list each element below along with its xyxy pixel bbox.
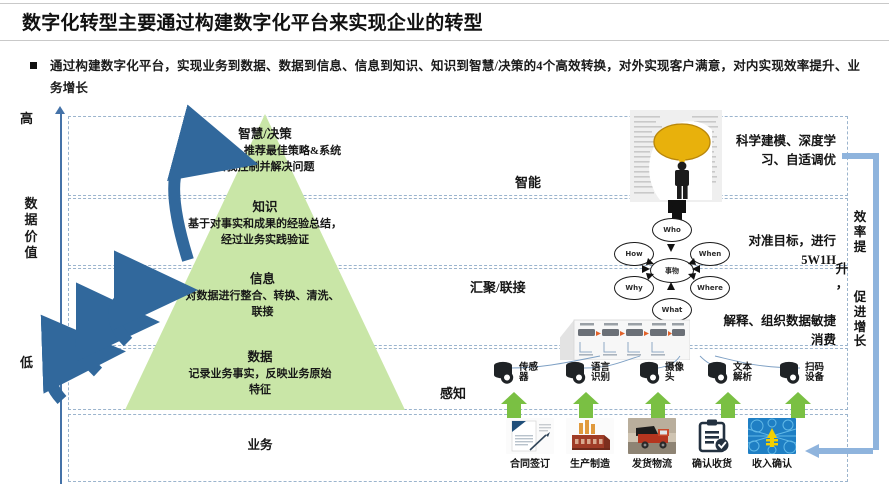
- summary-bullet: 通过构建数字化平台，实现业务到数据、数据到信息、信息到知识、知识到智慧/决策的4…: [30, 56, 870, 100]
- data-source-label: 摄像头: [665, 363, 691, 384]
- business-step-label: 发货物流: [622, 455, 682, 470]
- business-step-contract: 合同签订: [500, 418, 560, 470]
- note-scientific-modeling: 科学建模、深度学习、自适调优: [718, 132, 836, 171]
- database-cylinder-icon: [638, 361, 662, 385]
- business-step-label: 合同签订: [500, 455, 560, 470]
- data-source-label: 语言识别: [591, 363, 617, 384]
- data-source-row: 传感器 语言识别: [492, 358, 842, 396]
- feedback-arrow-left-icon: [805, 444, 873, 458]
- business-step-logistics: 发货物流: [622, 418, 682, 470]
- top-divider: [0, 3, 889, 4]
- stage-label-perception: 感知: [440, 383, 466, 402]
- summary-bullet-text: 通过构建数字化平台，实现业务到数据、数据到信息、信息到知识、知识到智慧/决策的4…: [50, 56, 870, 100]
- database-cylinder-icon: [564, 361, 588, 385]
- data-source-sensor: 传感器: [492, 361, 545, 385]
- truck-icon: [628, 418, 676, 454]
- factory-icon: [566, 418, 614, 454]
- brain-head-icon: [630, 110, 722, 202]
- feedback-char: 效: [852, 210, 868, 225]
- data-source-text-parsing: 文本解析: [706, 361, 759, 385]
- feedback-char: 升: [834, 262, 850, 277]
- data-source-label: 传感器: [519, 363, 545, 384]
- feedback-char: 提: [852, 240, 868, 255]
- stage-label-intelligence: 智能: [515, 172, 541, 191]
- business-step-label: 收入确认: [742, 455, 802, 470]
- pyramid-label-business: 业务: [175, 434, 345, 453]
- transform-arrows-group: [0, 100, 300, 420]
- feedback-char: 增: [852, 320, 868, 335]
- bullet-square-icon: [30, 62, 37, 69]
- green-arrows-group: [500, 392, 840, 420]
- feedback-text-col-3: 促 进 增 长: [852, 290, 868, 349]
- feedback-char: 率: [852, 225, 868, 240]
- database-cylinder-icon: [778, 361, 802, 385]
- contract-icon: [506, 418, 554, 454]
- business-step-manufacturing: 生产制造: [560, 418, 620, 470]
- five-w-one-h-diagram: Who How When Why Where What 事物: [612, 218, 730, 318]
- data-source-camera: 摄像头: [638, 361, 691, 385]
- database-cylinder-icon: [706, 361, 730, 385]
- slide-root: 数字化转型主要通过构建数字化平台来实现企业的转型 通过构建数字化平台，实现业务到…: [0, 0, 889, 500]
- data-source-barcode-scanner: 扫码设备: [778, 361, 831, 385]
- clipboard-check-icon: [688, 418, 736, 454]
- business-step-label: 生产制造: [560, 455, 620, 470]
- feedback-char: 长: [852, 334, 868, 349]
- business-step-label: 确认收货: [682, 455, 742, 470]
- business-step-receipt-confirmation: 确认收货: [682, 418, 742, 470]
- title-divider: [0, 40, 889, 41]
- data-source-label: 扫码设备: [805, 363, 831, 384]
- revenue-icon: [748, 418, 796, 454]
- feedback-char: ，: [834, 277, 850, 292]
- feedback-char: 促: [852, 290, 868, 305]
- stage-label-aggregate-link: 汇聚/联接: [470, 277, 526, 296]
- feedback-text-col-2: 升 ，: [834, 262, 850, 292]
- data-source-speech-recognition: 语言识别: [564, 361, 617, 385]
- note-target-5w1h: 对准目标，进行 5W1H: [726, 232, 836, 271]
- business-step-revenue-recognition: 收入确认: [742, 418, 802, 470]
- business-process-row: 合同签订: [500, 418, 850, 480]
- page-title: 数字化转型主要通过构建数字化平台来实现企业的转型: [22, 8, 862, 35]
- feedback-char: 进: [852, 305, 868, 320]
- note-explain-organize: 解释、组织数据敏捷消费: [722, 312, 836, 351]
- feedback-text-col-1: 效 率 提: [852, 210, 868, 254]
- data-source-label: 文本解析: [733, 363, 759, 384]
- database-cylinder-icon: [492, 361, 516, 385]
